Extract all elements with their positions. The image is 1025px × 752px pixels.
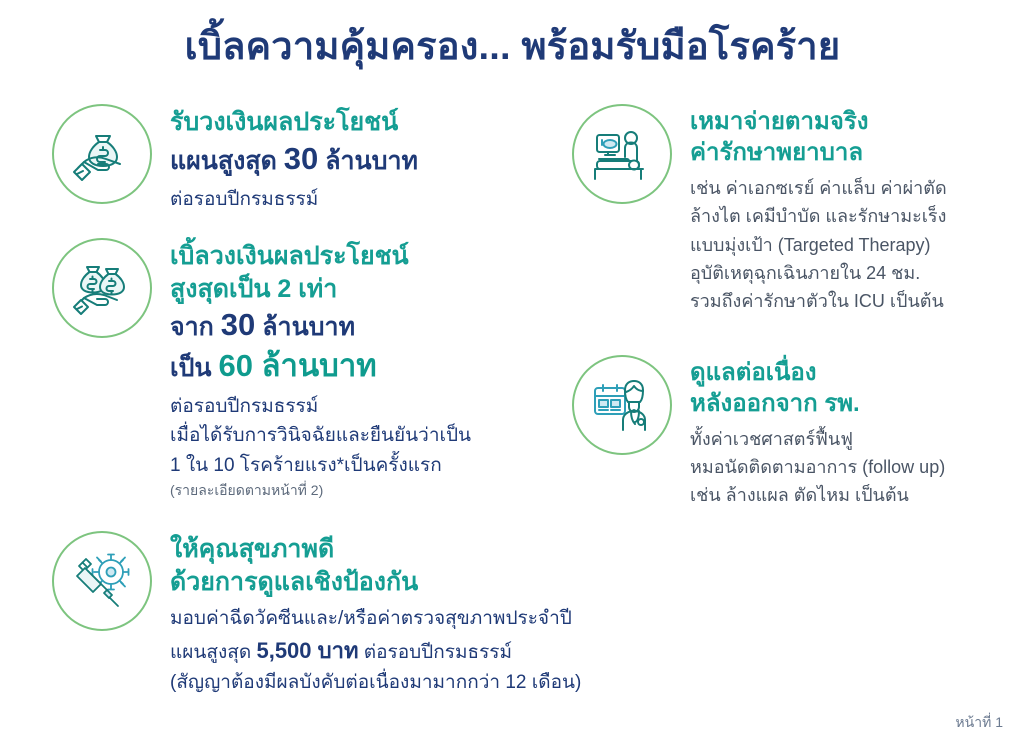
feature-actual-medical-cost: เหมาจ่ายตามจริง ค่ารักษาพยาบาล เช่น ค่าเ… [572, 104, 1012, 315]
feature-text: ให้คุณสุขภาพดี ด้วยการดูแลเชิงป้องกัน มอ… [170, 531, 581, 697]
feature-body-line: หมอนัดติดตามอาการ (follow up) [690, 453, 1012, 481]
feature-body-line: เช่น ค่าเอกซเรย์ ค่าแล็บ ค่าผ่าตัด [690, 174, 1012, 202]
feature-heading-teal: รับวงเงินผลประโยชน์ [170, 106, 552, 139]
right-column: เหมาจ่ายตามจริง ค่ารักษาพยาบาล เช่น ค่าเ… [572, 104, 1012, 533]
feature-body-line: อุบัติเหตุฉุกเฉินภายใน 24 ชม. [690, 259, 1012, 287]
hand-holding-two-money-bags-icon [52, 238, 152, 338]
feature-body-line: รวมถึงค่ารักษาตัวใน ICU เป็นต้น [690, 287, 1012, 315]
feature-text: รับวงเงินผลประโยชน์ แผนสูงสุด 30 ล้านบาท… [170, 104, 552, 214]
icon-wrapper [572, 355, 676, 459]
heading-prefix: แผนสูงสุด [170, 147, 284, 175]
feature-heading-teal-2: หลังออกจาก รพ. [690, 388, 1012, 419]
feature-heading-teal-2: ค่ารักษาพยาบาล [690, 137, 1012, 168]
icon-wrapper [572, 104, 676, 208]
feature-heading-from: จาก 30 ล้านบาท [170, 305, 552, 345]
feature-benefit-limit: รับวงเงินผลประโยชน์ แผนสูงสุด 30 ล้านบาท… [52, 104, 552, 214]
syringe-virus-icon [52, 531, 152, 631]
heading-suffix: ล้านบาท [318, 147, 418, 175]
feature-post-discharge-care: ดูแลต่อเนื่อง หลังออกจาก รพ. ทั้งค่าเวชศ… [572, 355, 1012, 510]
from-suffix: ล้านบาท [255, 313, 355, 341]
feature-heading-teal-2: สูงสุดเป็น 2 เท่า [170, 273, 552, 306]
preventive-line-3: (สัญญาต้องมีผลบังคับต่อเนื่องมามากกว่า 1… [170, 668, 581, 697]
infographic-page: เบิ้ลความคุ้มครอง... พร้อมรับมือโรคร้าย [0, 0, 1025, 752]
to-amount: 60 [218, 348, 252, 383]
icon-wrapper [52, 531, 156, 635]
feature-heading-teal-2: ด้วยการดูแลเชิงป้องกัน [170, 566, 581, 599]
page-number: หน้าที่ 1 [955, 712, 1003, 734]
feature-note: (รายละเอียดตามหน้าที่ 2) [170, 480, 552, 501]
feature-heading-teal-1: ดูแลต่อเนื่อง [690, 357, 1012, 388]
to-prefix: เป็น [170, 354, 218, 382]
heading-amount: 30 [284, 141, 318, 176]
feature-text: เบิ้ลวงเงินผลประโยชน์ สูงสุดเป็น 2 เท่า … [170, 238, 552, 501]
feature-text: เหมาจ่ายตามจริง ค่ารักษาพยาบาล เช่น ค่าเ… [690, 104, 1012, 315]
patient-bed-monitor-icon [572, 104, 672, 204]
hand-holding-money-bag-icon [52, 104, 152, 204]
plan-amount: 5,500 บาท [256, 638, 358, 663]
preventive-line-2: แผนสูงสุด 5,500 บาท ต่อรอบปีกรมธรรม์ [170, 634, 581, 668]
icon-wrapper [52, 104, 156, 208]
to-suffix: ล้านบาท [253, 348, 377, 383]
left-column: รับวงเงินผลประโยชน์ แผนสูงสุด 30 ล้านบาท… [52, 104, 552, 721]
feature-body-line: ล้างไต เคมีบำบัด และรักษามะเร็ง [690, 202, 1012, 230]
feature-subline-3: 1 ใน 10 โรคร้ายแรง*เป็นครั้งแรก [170, 451, 552, 480]
feature-heading-teal-1: ให้คุณสุขภาพดี [170, 533, 581, 566]
feature-subline: ต่อรอบปีกรมธรรม์ [170, 185, 552, 214]
doctor-calendar-icon [572, 355, 672, 455]
preventive-line-1: มอบค่าฉีดวัคซีนและ/หรือค่าตรวจสุขภาพประจ… [170, 604, 581, 633]
icon-wrapper [52, 238, 156, 342]
page-title: เบิ้ลความคุ้มครอง... พร้อมรับมือโรคร้าย [0, 24, 1025, 72]
feature-body-line: แบบมุ่งเป้า (Targeted Therapy) [690, 231, 1012, 259]
feature-preventive-care: ให้คุณสุขภาพดี ด้วยการดูแลเชิงป้องกัน มอ… [52, 531, 552, 697]
plan-suffix: ต่อรอบปีกรมธรรม์ [358, 642, 512, 663]
feature-heading-to: เป็น 60 ล้านบาท [170, 346, 552, 386]
feature-heading-navy: แผนสูงสุด 30 ล้านบาท [170, 139, 552, 179]
feature-double-benefit: เบิ้ลวงเงินผลประโยชน์ สูงสุดเป็น 2 เท่า … [52, 238, 552, 501]
feature-body-line: เช่น ล้างแผล ตัดไหม เป็นต้น [690, 481, 1012, 509]
from-prefix: จาก [170, 313, 221, 341]
feature-heading-teal-1: เบิ้ลวงเงินผลประโยชน์ [170, 240, 552, 273]
plan-prefix: แผนสูงสุด [170, 642, 256, 663]
feature-subline-1: ต่อรอบปีกรมธรรม์ [170, 392, 552, 421]
feature-body-line: ทั้งค่าเวชศาสตร์ฟื้นฟู [690, 425, 1012, 453]
feature-subline-2: เมื่อได้รับการวินิจฉัยและยืนยันว่าเป็น [170, 421, 552, 450]
feature-heading-teal-1: เหมาจ่ายตามจริง [690, 106, 1012, 137]
feature-text: ดูแลต่อเนื่อง หลังออกจาก รพ. ทั้งค่าเวชศ… [690, 355, 1012, 510]
from-amount: 30 [221, 307, 255, 342]
